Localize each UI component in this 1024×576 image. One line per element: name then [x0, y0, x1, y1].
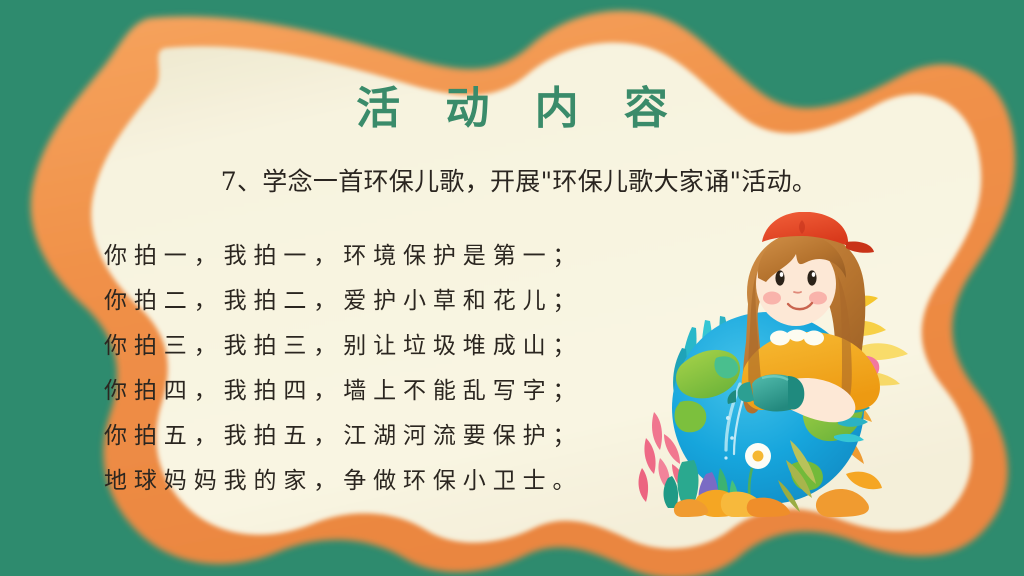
page-title: 活 动 内 容: [0, 72, 1024, 136]
slide-content: 活 动 内 容 7、学念一首环保儿歌，开展"环保儿歌大家诵"活动。 你拍一，我拍…: [0, 0, 1024, 576]
poem-block: 你拍一，我拍一，环境保护是第一； 你拍二，我拍二，爱护小草和花儿； 你拍三，我拍…: [104, 234, 644, 504]
poem-line: 你拍五，我拍五，江湖河流要保护；: [104, 414, 644, 459]
poem-line: 你拍四，我拍四，墙上不能乱写字；: [104, 369, 644, 414]
poem-line: 地球妈妈我的家，争做环保小卫士。: [104, 459, 644, 504]
poem-line: 你拍三，我拍三，别让垃圾堆成山；: [104, 324, 644, 369]
activity-item-heading: 7、学念一首环保儿歌，开展"环保儿歌大家诵"活动。: [0, 162, 1024, 198]
poem-line: 你拍二，我拍二，爱护小草和花儿；: [104, 279, 644, 324]
poem-line: 你拍一，我拍一，环境保护是第一；: [104, 234, 644, 279]
slide-canvas: 活 动 内 容 7、学念一首环保儿歌，开展"环保儿歌大家诵"活动。 你拍一，我拍…: [0, 0, 1024, 576]
